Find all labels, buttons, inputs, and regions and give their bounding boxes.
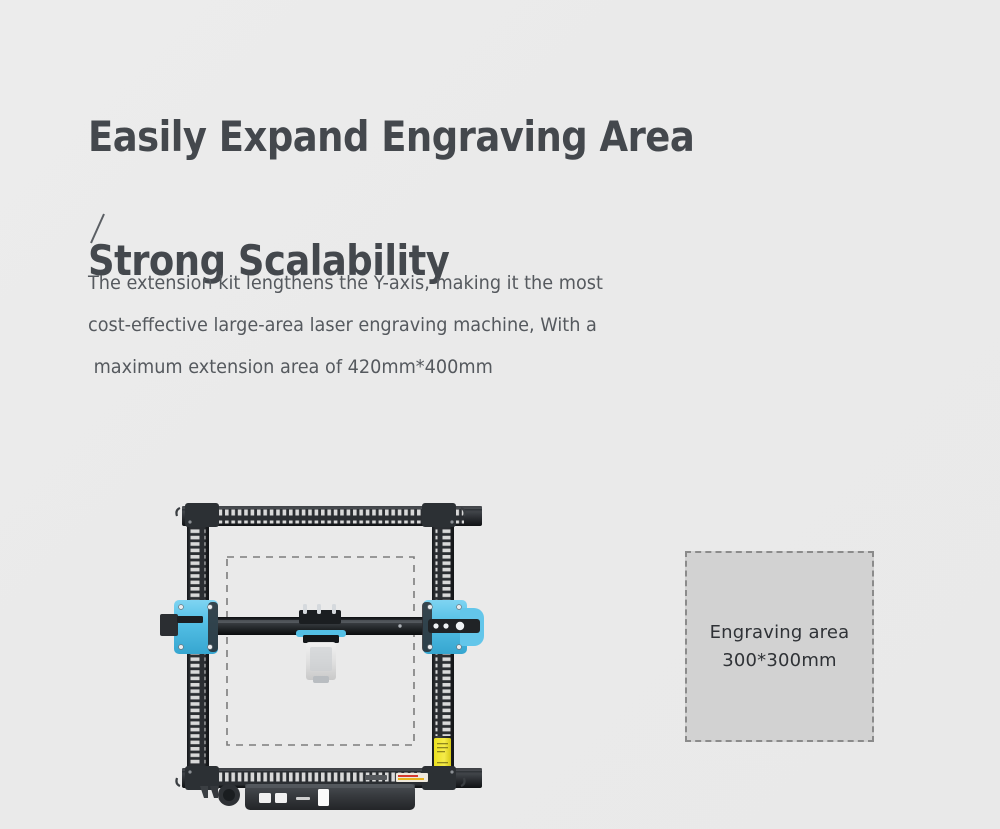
controller-port-1 <box>259 793 271 803</box>
controller-port-3 <box>318 789 329 806</box>
description-line-2: cost-effective large-area laser engravin… <box>88 304 739 346</box>
controller-port-2 <box>275 793 287 803</box>
description-paragraph: The extension kit lengthens the Y-axis, … <box>88 262 739 388</box>
page-title-line-1: Easily Expand Engraving Area <box>88 106 810 168</box>
laser-head-module <box>296 604 346 683</box>
engraving-area-label: Engraving area <box>710 619 850 647</box>
right-carriage-block <box>422 600 484 654</box>
description-line-3: maximum extension area of 420mm*400mm <box>88 346 739 388</box>
page-background: Easily Expand Engraving Area Strong Scal… <box>0 0 1000 829</box>
laser-engraver-illustration <box>160 490 505 815</box>
controller-slot <box>296 797 310 800</box>
controller-box <box>245 784 415 810</box>
description-line-1: The extension kit lengthens the Y-axis, … <box>88 262 739 304</box>
slash-divider-icon <box>88 212 110 246</box>
engraving-area-dimensions: 300*300mm <box>722 647 837 675</box>
engraving-area-callout: Engraving area 300*300mm <box>685 551 874 742</box>
left-carriage-block <box>160 600 218 654</box>
